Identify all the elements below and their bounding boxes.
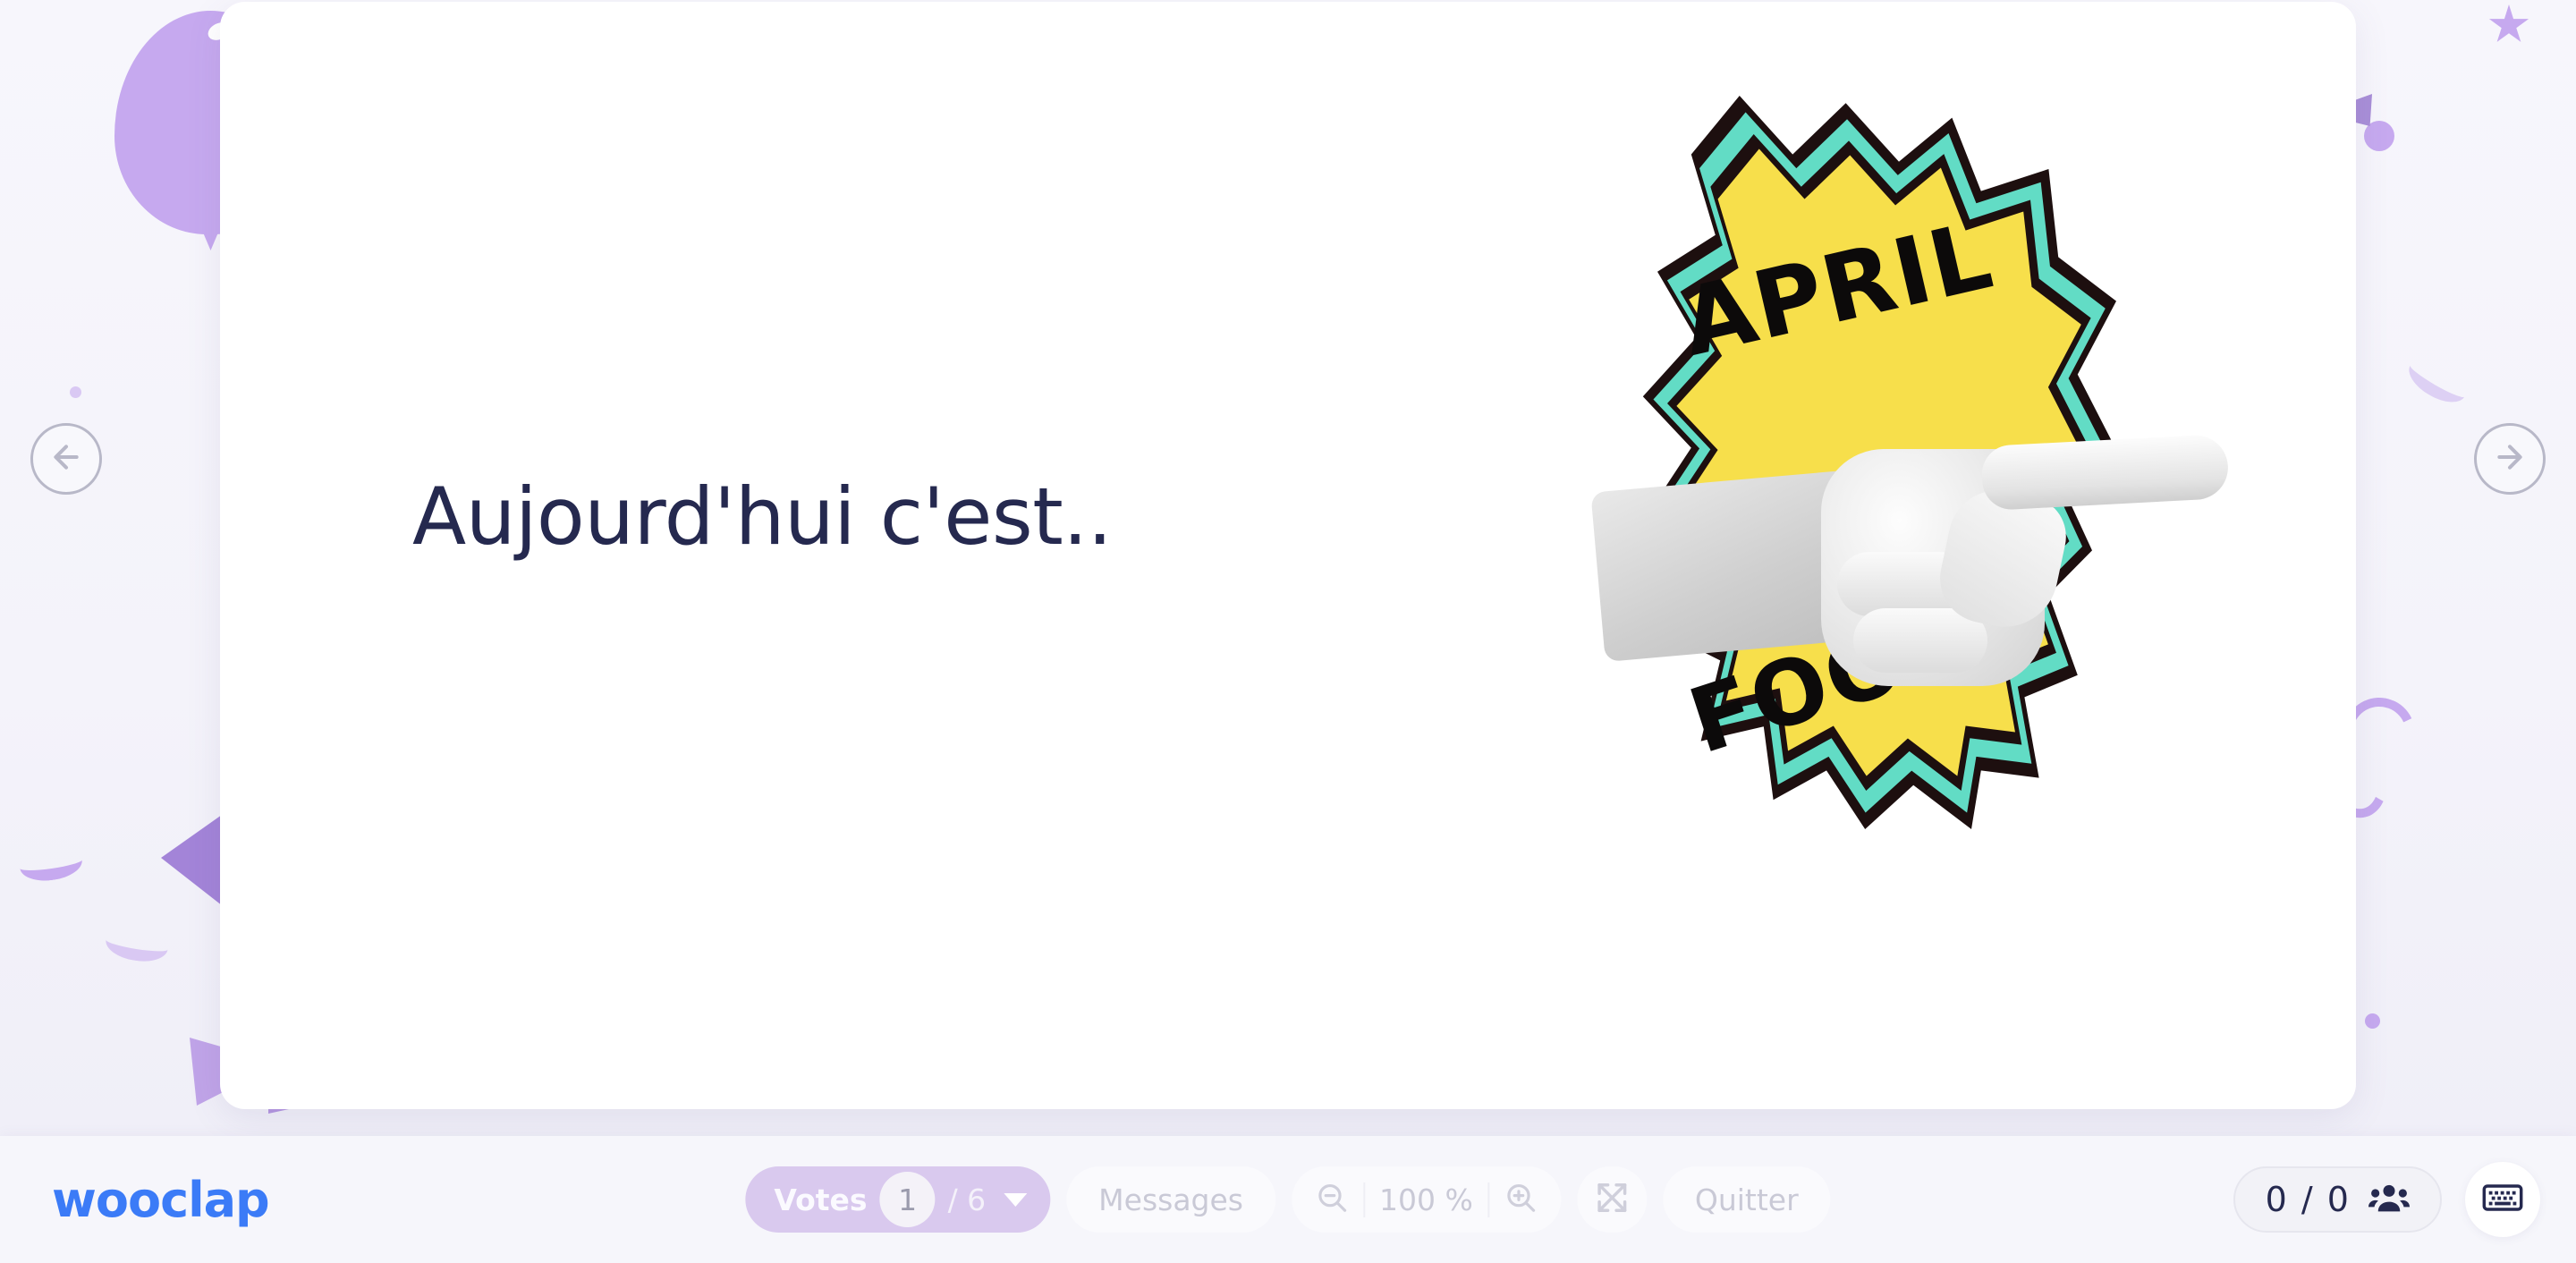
arc-decoration — [104, 924, 171, 966]
dot-decoration — [70, 386, 81, 398]
dot-decoration — [2364, 121, 2394, 151]
toolbar-right-group: 0 / 0 — [2233, 1162, 2540, 1237]
pointing-hand-image — [1597, 413, 2224, 708]
next-slide-button[interactable] — [2474, 423, 2546, 495]
arc-decoration — [2402, 352, 2473, 411]
slide-title-text: Aujourd'hui c'est.. — [412, 474, 1112, 561]
zoom-control-group: 100 % — [1292, 1166, 1561, 1233]
fullscreen-button[interactable] — [1577, 1166, 1647, 1233]
star-decoration — [2488, 4, 2529, 46]
chevron-down-icon — [1004, 1193, 1027, 1207]
zoom-out-icon — [1315, 1181, 1349, 1219]
arrow-right-icon — [2492, 439, 2528, 479]
previous-slide-button[interactable] — [30, 423, 102, 495]
wooclap-presentation-view: Aujourd'hui c'est.. APRIL FOOLS — [0, 0, 2576, 1263]
quit-button[interactable]: Quitter — [1663, 1166, 1831, 1233]
arc-decoration — [18, 843, 84, 884]
arrow-left-icon — [48, 439, 84, 479]
zoom-in-button[interactable] — [1489, 1166, 1552, 1233]
slide-stage: Aujourd'hui c'est.. APRIL FOOLS — [0, 0, 2576, 1136]
votes-dropdown-button[interactable]: Votes 1 / 6 — [745, 1166, 1050, 1233]
wooclap-logo[interactable]: wooclap — [52, 1172, 269, 1228]
votes-total-count: / 6 — [948, 1182, 987, 1217]
hand-index-finger — [1980, 434, 2229, 511]
fullscreen-icon — [1595, 1181, 1629, 1219]
messages-button[interactable]: Messages — [1066, 1166, 1275, 1233]
toolbar-center-group: Votes 1 / 6 Messages — [745, 1166, 1830, 1233]
keyboard-shortcuts-button[interactable] — [2465, 1162, 2540, 1237]
zoom-level-value[interactable]: 100 % — [1363, 1182, 1489, 1217]
dot-decoration — [2365, 1013, 2380, 1029]
april-fools-illustration: APRIL FOOLS — [1365, 73, 2259, 968]
participants-counter[interactable]: 0 / 0 — [2233, 1166, 2442, 1233]
zoom-in-icon — [1504, 1181, 1538, 1219]
people-icon — [2368, 1182, 2410, 1218]
zoom-out-button[interactable] — [1301, 1166, 1363, 1233]
keyboard-icon — [2482, 1182, 2523, 1218]
slide-content: Aujourd'hui c'est.. APRIL FOOLS — [220, 2, 2356, 1109]
participants-count-text: 0 / 0 — [2266, 1180, 2351, 1219]
slide-card: Aujourd'hui c'est.. APRIL FOOLS — [220, 2, 2356, 1109]
bottom-toolbar: wooclap Votes 1 / 6 Messages — [0, 1136, 2576, 1263]
votes-label: Votes — [774, 1182, 867, 1217]
votes-current-count: 1 — [880, 1172, 936, 1227]
